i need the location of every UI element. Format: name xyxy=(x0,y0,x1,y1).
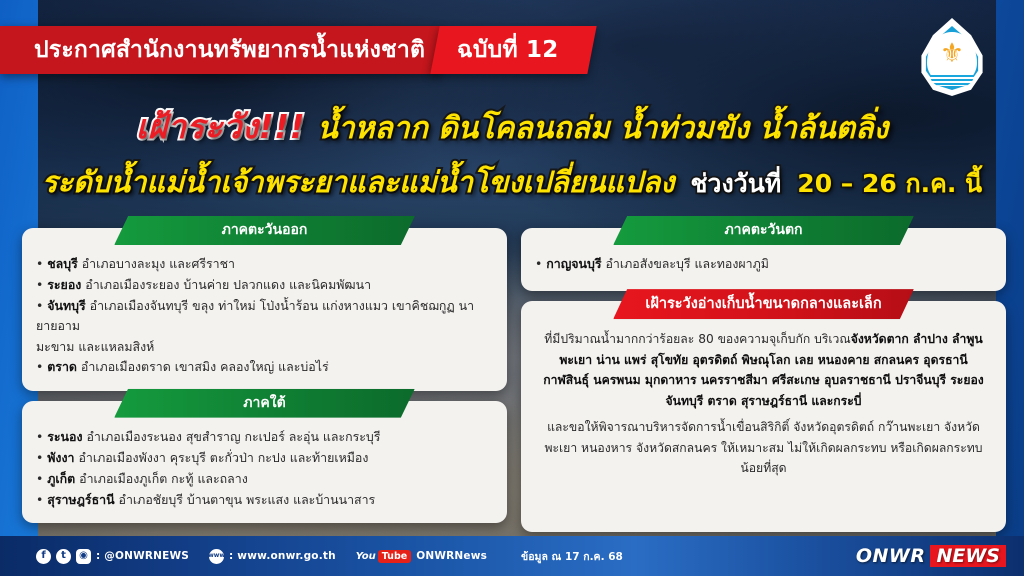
list-item: • จันทบุรี อำเภอเมืองจันทบุรี ขลุง ท่าให… xyxy=(36,296,493,336)
reservoir-intro: ที่มีปริมาณน้ำมากกว่าร้อยละ 80 ของความจุ… xyxy=(544,332,850,346)
headline-block: เฝ้าระวัง!!! น้ำหลาก ดินโคลนถล่ม น้ำท่วม… xyxy=(0,100,1024,205)
page-title: ประกาศสำนักงานทรัพยากรน้ำแห่งชาติ xyxy=(34,32,425,68)
website-url: : www.onwr.go.th xyxy=(229,550,336,562)
youtube-icon[interactable]: You Tube xyxy=(356,550,411,563)
province-name: ภูเก็ต xyxy=(47,471,75,486)
section-title-west: ภาคตะวันตก xyxy=(613,216,914,245)
footer-bar: f t ◉ : @ONWRNEWS www : www.onwr.go.th Y… xyxy=(0,536,1024,576)
card-west-region: ภาคตะวันตก • กาญจนบุรี อำเภอสังขละบุรี แ… xyxy=(521,228,1006,291)
province-detail: อำเภอเมืองพังงา คุระบุรี ตะกั่วป่า กะปง … xyxy=(78,450,368,465)
twitter-icon[interactable]: t xyxy=(56,549,71,564)
province-detail: อำเภอบางละมุง และศรีราชา xyxy=(82,256,235,271)
province-name: พังงา xyxy=(47,450,74,465)
province-name: กาญจนบุรี xyxy=(546,256,601,271)
logo-ring xyxy=(912,14,992,102)
poster-root: ประกาศสำนักงานทรัพยากรน้ำแห่งชาติ ฉบับที… xyxy=(0,0,1024,576)
province-name: สุราษฎร์ธานี xyxy=(47,492,114,507)
data-stamp: ข้อมูล ณ 17 ก.ค. 68 xyxy=(521,548,623,565)
list-item: • ภูเก็ต อำเภอเมืองภูเก็ต กะทู้ และถลาง xyxy=(36,469,493,489)
list-item: • ระยอง อำเภอเมืองระยอง บ้านค่าย ปลวกแดง… xyxy=(36,275,493,295)
province-detail: อำเภอเมืองตราด เขาสมิง คลองใหญ่ และบ่อไร… xyxy=(81,359,329,374)
province-detail: อำเภอเมืองภูเก็ต กะทู้ และถลาง xyxy=(79,471,248,486)
content-columns: ภาคตะวันออก • ชลบุรี อำเภอบางละมุง และศร… xyxy=(22,228,1006,532)
list-item: • ระนอง อำเภอเมืองระนอง สุขสำราญ กะเปอร์… xyxy=(36,427,493,447)
province-name: จันทบุรี xyxy=(47,298,85,313)
reservoir-note: และขอให้พิจารณาบริหารจัดการน้ำเขื่อนสิริ… xyxy=(535,417,992,479)
list-item: • สุราษฎร์ธานี อำเภอชัยบุรี บ้านตาขุน พร… xyxy=(36,490,493,510)
headline-line-1: น้ำหลาก ดินโคลนถล่ม น้ำท่วมขัง น้ำล้นตลิ… xyxy=(317,105,888,152)
list-item: • กาญจนบุรี อำเภอสังขละบุรี และทองผาภูมิ xyxy=(535,254,992,274)
right-column: ภาคตะวันตก • กาญจนบุรี อำเภอสังขละบุรี แ… xyxy=(521,228,1006,532)
period-value: 20 – 26 ก.ค. นี้ xyxy=(797,164,982,204)
section-title-reservoir: เฝ้าระวังอ่างเก็บน้ำขนาดกลางและเล็ก xyxy=(613,289,914,319)
social-links[interactable]: f t ◉ : @ONWRNEWS xyxy=(36,549,189,564)
section-title-south: ภาคใต้ xyxy=(114,389,415,418)
headline-line-2: ระดับน้ำแม่น้ำเจ้าพระยาและแม่น้ำโขงเปลี่… xyxy=(42,159,675,205)
province-detail: อำเภอเมืองระนอง สุขสำราญ กะเปอร์ ละอุ่น … xyxy=(86,429,380,444)
province-detail: อำเภอเมืองระยอง บ้านค่าย ปลวกแดง และนิคม… xyxy=(85,277,371,292)
card-east-region: ภาคตะวันออก • ชลบุรี อำเภอบางละมุง และศร… xyxy=(22,228,507,391)
onwr-news-brand: ONWR NEWS xyxy=(856,545,1006,567)
globe-icon[interactable]: www xyxy=(209,549,224,564)
website-link[interactable]: www : www.onwr.go.th xyxy=(209,549,336,564)
card-reservoir-warning: เฝ้าระวังอ่างเก็บน้ำขนาดกลางและเล็ก ที่ม… xyxy=(521,301,1006,532)
list-item: • ตราด อำเภอเมืองตราด เขาสมิง คลองใหญ่ แ… xyxy=(36,357,493,377)
province-detail: อำเภอชัยบุรี บ้านตาขุน พระแสง และบ้านนาส… xyxy=(119,492,376,507)
list-item: • ชลบุรี อำเภอบางละมุง และศรีราชา xyxy=(36,254,493,274)
header-edition-block: ฉบับที่ 12 xyxy=(430,26,597,74)
province-name: ตราด xyxy=(47,359,77,374)
onwr-logo: ⚜ xyxy=(912,14,992,102)
instagram-icon[interactable]: ◉ xyxy=(76,549,91,564)
headline-row-1: เฝ้าระวัง!!! น้ำหลาก ดินโคลนถล่ม น้ำท่วม… xyxy=(0,100,1024,153)
province-detail: อำเภอสังขละบุรี และทองผาภูมิ xyxy=(605,256,768,271)
headline-row-2: ระดับน้ำแม่น้ำเจ้าพระยาและแม่น้ำโขงเปลี่… xyxy=(0,159,1024,205)
reservoir-body: ที่มีปริมาณน้ำมากกว่าร้อยละ 80 ของความจุ… xyxy=(535,329,992,411)
province-name: ชลบุรี xyxy=(47,256,78,271)
province-detail: อำเภอเมืองจันทบุรี ขลุง ท่าใหม่ โป่งน้ำร… xyxy=(36,298,474,333)
facebook-icon[interactable]: f xyxy=(36,549,51,564)
province-name: ระยอง xyxy=(47,277,81,292)
edition-number: ฉบับที่ 12 xyxy=(457,32,558,68)
header-banner: ประกาศสำนักงานทรัพยากรน้ำแห่งชาติ ฉบับที… xyxy=(0,26,593,74)
period-label: ช่วงวันที่ xyxy=(690,164,781,204)
youtube-tube-text: Tube xyxy=(378,550,411,563)
youtube-link[interactable]: You Tube ONWRNews xyxy=(356,550,487,563)
card-south-region: ภาคใต้ • ระนอง อำเภอเมืองระนอง สุขสำราญ … xyxy=(22,401,507,523)
social-handle: : @ONWRNEWS xyxy=(96,550,189,562)
list-item: • พังงา อำเภอเมืองพังงา คุระบุรี ตะกั่วป… xyxy=(36,448,493,468)
brand-news-text: NEWS xyxy=(930,545,1006,567)
left-column: ภาคตะวันออก • ชลบุรี อำเภอบางละมุง และศร… xyxy=(22,228,507,532)
header-title-block: ประกาศสำนักงานทรัพยากรน้ำแห่งชาติ xyxy=(0,26,441,74)
brand-onwr-text: ONWR xyxy=(856,545,926,567)
alert-text: เฝ้าระวัง!!! xyxy=(136,100,305,153)
youtube-you-text: You xyxy=(356,551,376,562)
section-title-east: ภาคตะวันออก xyxy=(114,216,415,245)
youtube-channel: ONWRNews xyxy=(416,550,487,562)
province-name: ระนอง xyxy=(47,429,82,444)
list-item-continuation: มะขาม และแหลมสิงห์ xyxy=(36,337,493,357)
